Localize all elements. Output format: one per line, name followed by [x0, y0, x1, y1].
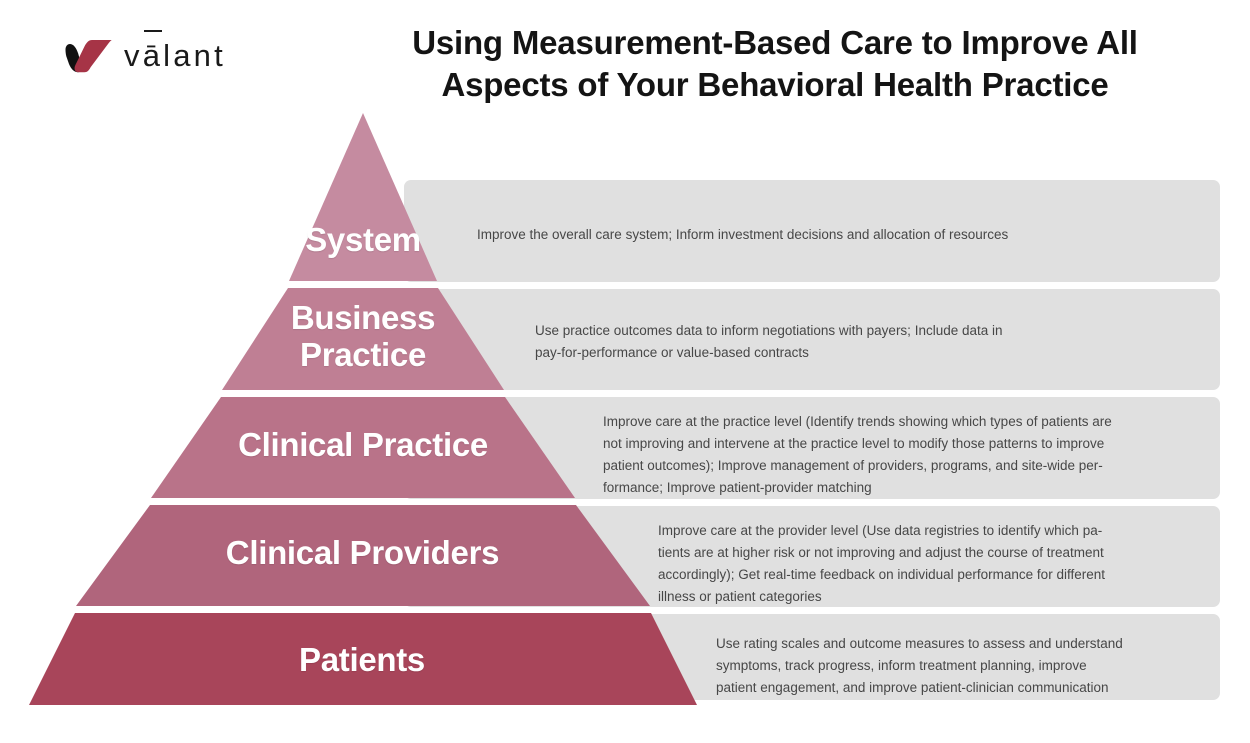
info-text-patients: Use rating scales and outcome measures t… [716, 633, 1216, 699]
info-text-clinical-providers-line-4: illness or patient categories [658, 586, 1218, 608]
page-title: Using Measurement-Based Care to Improve … [380, 22, 1170, 106]
valant-wordmark: vālant [124, 40, 226, 71]
info-text-clinical-providers-line-1: Improve care at the provider level (Use … [658, 520, 1218, 542]
tier-label-clinical-providers: Clinical Providers [190, 535, 535, 572]
valant-logo: vālant [62, 30, 312, 80]
valant-checkmark-logo-icon [62, 36, 114, 74]
logo-text-macron: ā [143, 40, 163, 71]
info-text-business-practice-line-2: pay-for-performance or value-based contr… [535, 342, 1175, 364]
info-text-patients-line-1: Use rating scales and outcome measures t… [716, 633, 1216, 655]
tier-label-business-practice-line-2: Practice [253, 337, 473, 374]
info-text-system: Improve the overall care system; Inform … [477, 224, 1177, 246]
page-title-line-1: Using Measurement-Based Care to Improve … [380, 22, 1170, 64]
page-title-line-2: Aspects of Your Behavioral Health Practi… [380, 64, 1170, 106]
info-text-patients-line-2: symptoms, track progress, inform treatme… [716, 655, 1216, 677]
info-text-system-line-1: Improve the overall care system; Inform … [477, 224, 1177, 246]
info-text-clinical-practice: Improve care at the practice level (Iden… [603, 411, 1203, 498]
info-text-clinical-practice-line-2: not improving and intervene at the pract… [603, 433, 1203, 455]
info-text-patients-line-3: patient engagement, and improve patient-… [716, 677, 1216, 699]
info-text-clinical-providers: Improve care at the provider level (Use … [658, 520, 1218, 607]
info-text-clinical-practice-line-1: Improve care at the practice level (Iden… [603, 411, 1203, 433]
info-text-clinical-providers-line-2: tients are at higher risk or not improvi… [658, 542, 1218, 564]
info-text-clinical-practice-line-3: patient outcomes); Improve management of… [603, 455, 1203, 477]
tier-label-clinical-practice: Clinical Practice [203, 427, 523, 464]
info-text-clinical-practice-line-4: formance; Improve patient-provider match… [603, 477, 1203, 499]
logo-text-pre: v [124, 38, 143, 73]
tier-label-system: System [263, 222, 463, 259]
tier-label-patients: Patients [252, 642, 472, 679]
tier-label-business-practice-line-1: Business [253, 300, 473, 337]
slide-canvas: vālant Using Measurement-Based Care to I… [0, 0, 1250, 743]
logo-text-post: lant [163, 38, 226, 73]
info-text-clinical-providers-line-3: accordingly); Get real-time feedback on … [658, 564, 1218, 586]
info-text-business-practice: Use practice outcomes data to inform neg… [535, 320, 1175, 364]
tier-label-business-practice: Business Practice [253, 300, 473, 374]
info-text-business-practice-line-1: Use practice outcomes data to inform neg… [535, 320, 1175, 342]
